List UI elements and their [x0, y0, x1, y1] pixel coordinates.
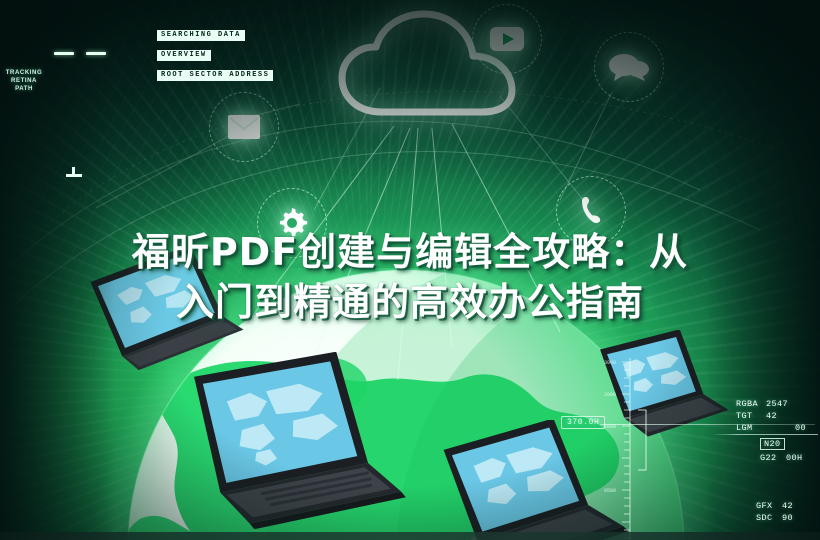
hud-dash-mark-1 — [54, 52, 74, 55]
readout-value: 90 — [782, 512, 808, 524]
readout-row: SDC 90 — [756, 512, 808, 524]
readout-value: 00 — [766, 422, 806, 434]
hud-chip-stack: SEARCHING DATA OVERVIEW ROOT SECTOR ADDR… — [157, 23, 273, 83]
readout-middle: N20 G22 00H — [760, 438, 812, 464]
readout-key: GFX — [756, 500, 782, 512]
readout-row: GFX 42 — [756, 500, 808, 512]
hud-tracking-line1: TRACKING — [3, 69, 45, 77]
readout-lower: GFX 42 SDC 90 — [756, 500, 808, 524]
readout-value: 42 — [766, 410, 792, 422]
hud-dash-mark-2 — [86, 52, 106, 55]
hud-tracking-label: TRACKING RETINA PATH — [3, 69, 45, 93]
readout-key: RGBA — [736, 398, 766, 410]
hud-tracking-line2: RETINA PATH — [3, 77, 45, 93]
readout-upper: RGBA 2547 TGT 42 LGM 00 — [736, 398, 806, 434]
hud-chip-root-sector-address: ROOT SECTOR ADDRESS — [157, 70, 273, 81]
readout-separator — [712, 434, 818, 435]
readout-key: SDC — [756, 512, 782, 524]
svg-text:2000: 2000 — [604, 392, 616, 398]
readout-row: LGM 00 — [736, 422, 806, 434]
readout-key: TGT — [736, 410, 766, 422]
readout-row: G22 00H — [760, 452, 812, 464]
svg-text:0500: 0500 — [604, 488, 616, 494]
readout-badge-n20: N20 — [760, 438, 785, 450]
background-vignette — [0, 0, 820, 540]
svg-text:3000: 3000 — [604, 360, 616, 366]
hud-chip-overview: OVERVIEW — [157, 50, 211, 61]
readout-badge-row: N20 — [760, 438, 812, 450]
readout-row: TGT 42 — [736, 410, 806, 422]
readout-key: G22 — [760, 452, 786, 464]
hud-tee-marker — [66, 164, 82, 174]
scale-ruler: 3000 2000 1000 0500 0000 — [592, 358, 652, 540]
hero-banner: SEARCHING DATA OVERVIEW ROOT SECTOR ADDR… — [0, 0, 820, 540]
scale-value-chip: 370.0H — [561, 416, 605, 429]
readout-key: LGM — [736, 422, 766, 434]
bottom-bar — [0, 532, 820, 540]
readout-value: 42 — [782, 500, 808, 512]
readout-value: 00H — [786, 452, 812, 464]
readout-value: 2547 — [766, 398, 792, 410]
hud-chip-searching-data: SEARCHING DATA — [157, 30, 245, 41]
readout-row: RGBA 2547 — [736, 398, 806, 410]
